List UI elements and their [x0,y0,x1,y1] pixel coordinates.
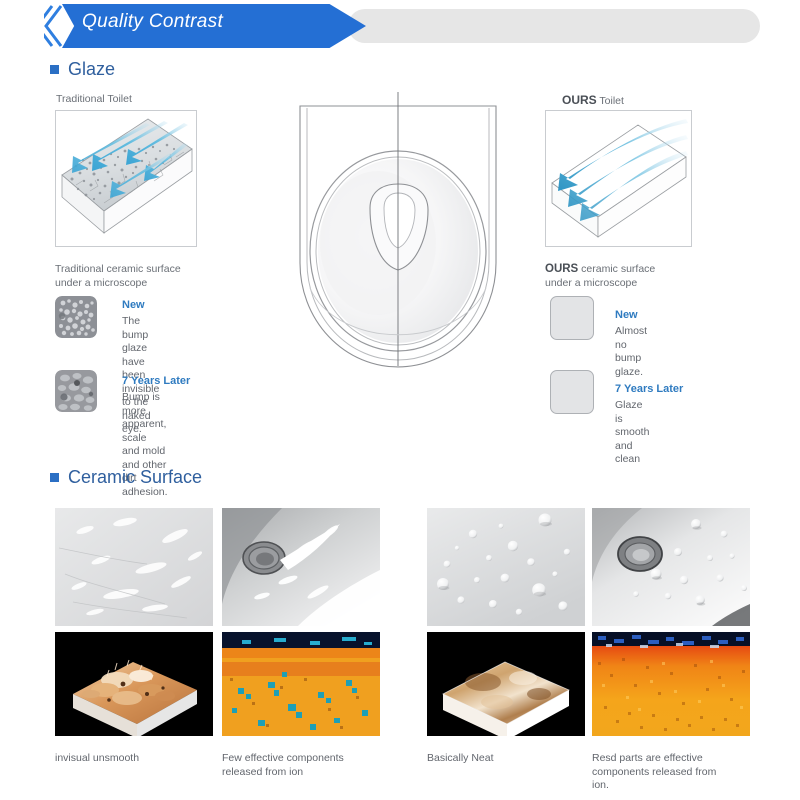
micro-item-title: 7 Years Later [122,375,190,387]
ceramic-surface-photo-rough [55,508,213,626]
micro-item-body: Glaze is smooth and clean [615,399,649,467]
ours-toilet-label-strong: OURS [562,93,597,107]
microscope-thumb-icon [550,370,594,414]
ceramic-cell-caption: Basically Neat [427,752,577,766]
traditional-toilet-label: Traditional Toilet [56,93,132,105]
microscope-thumb-icon [55,296,97,338]
square-bullet-icon [50,473,59,482]
traditional-microscope-caption: Traditional ceramic surface under a micr… [55,262,181,290]
ion-map-low-release [222,632,380,736]
micro-item-title: 7 Years Later [615,383,683,395]
section-heading-ceramic-surface-label: Ceramic Surface [68,467,202,488]
section-heading-ceramic-surface: Ceramic Surface [50,467,202,488]
afm-3d-rough-surface [55,632,213,736]
ours-toilet-label: OURS Toilet [562,93,624,107]
ceramic-drain-photo-rough [222,508,380,626]
ours-glaze-illustration [545,110,692,247]
afm-3d-smooth-surface [427,632,585,736]
square-bullet-icon [50,65,59,74]
ceramic-cell-caption: Resd parts are effective components rele… [592,752,752,793]
ours-caption-strong: OURS [545,263,578,275]
ours-microscope-caption: OURS ceramic surface under a microscope [545,262,655,290]
section-heading-glaze: Glaze [50,59,115,80]
section-heading-glaze-label: Glaze [68,59,115,80]
ceramic-cell-caption: invisual unsmooth [55,752,205,766]
ceramic-drain-photo-droplets [592,508,750,626]
ion-map-high-release [592,632,750,736]
micro-item-title: New [615,309,638,321]
traditional-glaze-illustration [55,110,197,247]
microscope-thumb-icon [55,370,97,412]
micro-item-body: Almost no bump glaze. [615,325,647,379]
micro-item-title: New [122,299,145,311]
banner-gray-bar [348,9,760,43]
ceramic-cell-caption: Few effective components released from i… [222,752,382,779]
ceramic-surface-photo-droplets [427,508,585,626]
microscope-thumb-icon [550,296,594,340]
page-title: Quality Contrast [82,11,223,33]
toilet-top-view-diagram [278,88,518,373]
double-chevron-left-icon [44,4,64,48]
page-banner: Quality Contrast [0,0,800,52]
ours-toilet-label-rest: Toilet [599,95,624,107]
